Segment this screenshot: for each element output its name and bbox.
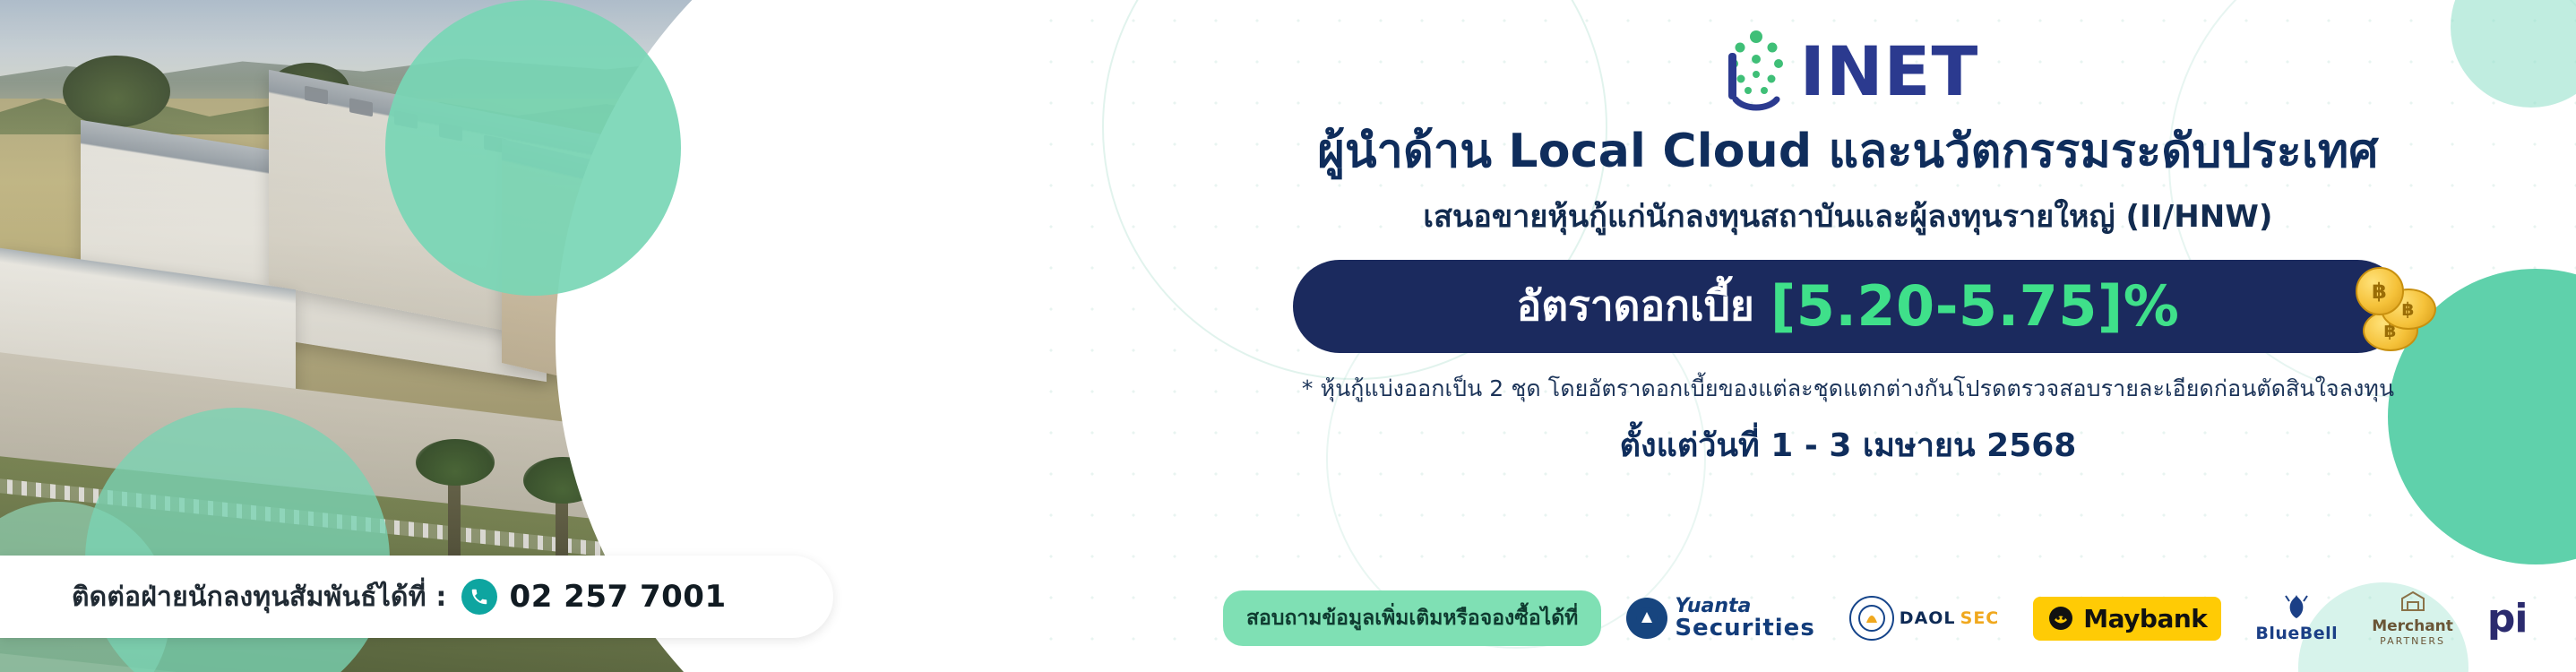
subheadline: เสนอขายหุ้นกู้แก่นักลงทุนสถาบันและผู้ลงท… xyxy=(1120,192,2576,240)
offering-dates: ตั้งแต่วันที่ 1 - 3 เมษายน 2568 xyxy=(1120,419,2576,470)
contact-phone-number[interactable]: 02 257 7001 xyxy=(510,579,727,615)
daol-name: DAOL xyxy=(1900,608,1956,628)
daol-suffix: SEC xyxy=(1960,608,2000,628)
promo-banner: ติดต่อฝ่ายนักลงทุนสัมพันธ์ได้ที่ : 02 25… xyxy=(0,0,2576,672)
phone-icon xyxy=(461,579,497,615)
maybank-name: Maybank xyxy=(2083,604,2207,633)
partner-logo-bluebell[interactable]: BlueBell xyxy=(2246,590,2347,646)
partner-logo-yuanta[interactable]: Yuanta Securities xyxy=(1617,590,1823,646)
promo-content: INET ผู้นำด้าน Local Cloud และนวัตกรรมระ… xyxy=(1120,0,2576,672)
interest-rate-box: อัตราดอกเบี้ย [5.20-5.75]% ฿ ฿ ฿ xyxy=(1293,260,2404,353)
yuanta-mark-icon xyxy=(1626,598,1667,639)
inet-logo: INET xyxy=(1120,22,2576,120)
investor-relations-contact: ติดต่อฝ่ายนักลงทุนสัมพันธ์ได้ที่ : 02 25… xyxy=(0,556,833,638)
inet-logo-text: INET xyxy=(1800,31,1979,111)
merchant-name: Merchant xyxy=(2372,617,2453,635)
partner-logo-maybank[interactable]: Maybank xyxy=(2024,590,2230,646)
partner-logo-pi[interactable]: pi xyxy=(2478,590,2537,646)
partner-row: สอบถามข้อมูลเพิ่มเติมหรือจองซื้อได้ที่ Y… xyxy=(1223,582,2549,654)
daol-mark-icon xyxy=(1849,596,1894,641)
gold-coins-icon: ฿ ฿ ฿ xyxy=(2345,262,2452,355)
partner-logo-merchant[interactable]: Merchant PARTNERS xyxy=(2363,590,2462,646)
merchant-mark-icon xyxy=(2372,590,2453,617)
pi-logo-icon: pi xyxy=(2487,596,2528,642)
maybank-tiger-icon xyxy=(2047,605,2074,632)
headline: ผู้นำด้าน Local Cloud และนวัตกรรมระดับปร… xyxy=(1120,125,2576,179)
partner-logo-daol[interactable]: DAOL SEC xyxy=(1840,590,2008,646)
mint-circle-decoration xyxy=(385,0,681,296)
yuanta-line1: Yuanta xyxy=(1675,597,1814,616)
inquiry-cta-button[interactable]: สอบถามข้อมูลเพิ่มเติมหรือจองซื้อได้ที่ xyxy=(1223,590,1601,646)
yuanta-line2: Securities xyxy=(1675,616,1814,640)
inet-dots-logo-icon xyxy=(1718,30,1795,112)
interest-rate-label: อัตราดอกเบี้ย xyxy=(1517,273,1754,339)
merchant-sub: PARTNERS xyxy=(2372,635,2453,647)
bluebell-deer-icon xyxy=(2255,593,2338,624)
interest-rate-value: [5.20-5.75]% xyxy=(1770,273,2179,339)
rate-disclaimer-note: * หุ้นกู้แบ่งออกเป็น 2 ชุด โดยอัตราดอกเบ… xyxy=(1120,371,2576,407)
contact-label: ติดต่อฝ่ายนักลงทุนสัมพันธ์ได้ที่ : xyxy=(72,576,447,618)
bluebell-name: BlueBell xyxy=(2255,624,2338,643)
